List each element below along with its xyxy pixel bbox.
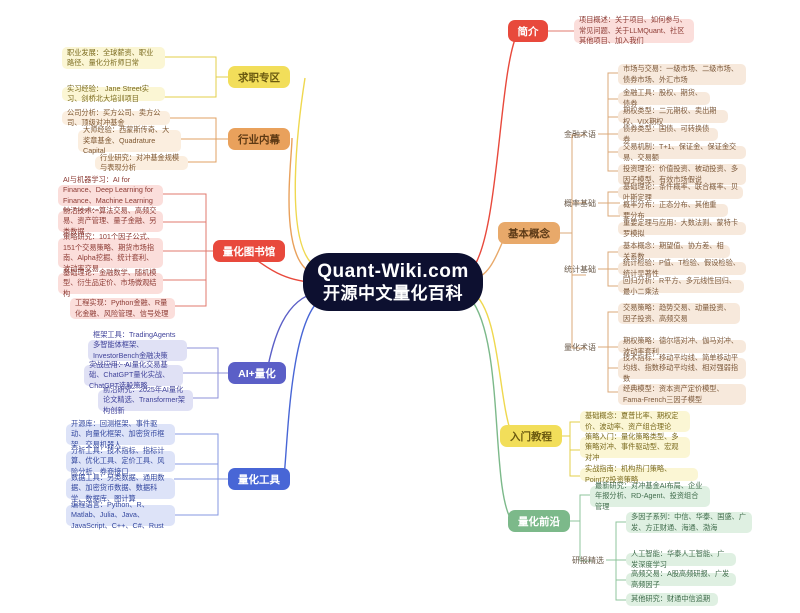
subbranch-统计基础[interactable]: 统计基础 (560, 262, 600, 276)
leaf-card[interactable]: 人工智能：华泰人工智能、广发深度学习 (626, 553, 736, 566)
leaf-text: 工程实现：Python金融、R量化金融、风险管理、信号处理 (75, 298, 170, 319)
leaf-card[interactable]: 实战应用：AI量化交易基础、ChatGPT量化实战、ChatGPT选股策略 (84, 365, 183, 386)
leaf-card[interactable]: 概率分布：正态分布、其他重要分布 (618, 204, 728, 217)
leaf-card[interactable]: 策略入门：量化策略类型、多策略对冲、事件驱动型、宏观对冲 (580, 437, 690, 458)
leaf-card[interactable]: 统计检验：P值、T检验、假设检验、统计显著性 (618, 262, 746, 275)
leaf-card[interactable]: 重要定理与应用：大数法则、蒙特卡罗模拟 (618, 222, 746, 235)
leaf-card[interactable]: 基础理论：条件概率、联合概率、贝叶斯定理 (618, 186, 743, 199)
leaf-card[interactable]: 基础概念：夏普比率、期权定价、波动率、资产组合理论 (580, 411, 690, 432)
subbranch-研报精选[interactable]: 研报精选 (568, 553, 608, 567)
subbranch-label: 研报精选 (572, 555, 604, 566)
root-subtitle: 开源中文量化百科 (323, 283, 463, 304)
subbranch-金融术语[interactable]: 金融术语 (560, 127, 600, 141)
leaf-card[interactable]: 多因子系列：中信、华泰、国盛、广发、方正财通、海通、渤海 (626, 512, 752, 533)
leaf-text: 交易策略：趋势交易、动量投资、因子投资、高频交易 (623, 303, 735, 324)
leaf-card[interactable]: 大师经验：西蒙斯传奇、大奖章基金、Quadrature Capital (78, 130, 181, 152)
branch-行业内幕[interactable]: 行业内幕 (228, 128, 290, 150)
branch-label: 求职专区 (238, 70, 280, 85)
subbranch-label: 统计基础 (564, 264, 596, 275)
leaf-card[interactable]: 分析工具：技术指标、指标计算、优化工具、定价工具、风险分析、券商接口 (66, 451, 175, 472)
branch-label: 量化前沿 (518, 514, 560, 529)
branch-简介[interactable]: 简介 (508, 20, 548, 42)
connector-group (160, 50, 232, 106)
connector-group (598, 190, 622, 242)
leaf-text: 职业发展：全球薪资、职业路径、量化分析师日常 (67, 48, 160, 69)
leaf-card[interactable]: 开源库：回测框架、事件驱动、向量化框架、加密货币框架、交易机器人 (66, 424, 175, 445)
leaf-text: 其他研究：财通中信追期 (631, 594, 710, 605)
leaf-card[interactable]: 编程语言：Python、R、Matlab、Julia、Java、JavaScri… (66, 505, 175, 526)
leaf-card[interactable]: 市场与交易：一级市场、二级市场、债券市场、外汇市场 (618, 64, 746, 85)
leaf-card[interactable]: 实习经验： Jane Street实习、剑桥北大培训项目 (62, 87, 165, 101)
subbranch-label: 量化术语 (564, 342, 596, 353)
leaf-card[interactable]: 期权策略：德尔塔对冲、伽马对冲、波动率套利 (618, 340, 746, 353)
leaf-card[interactable]: 债券类型：国债、可转换债券 (618, 128, 718, 141)
leaf-card[interactable]: 最新研究：对冲基金AI布局、企业年报分析、RD-Agent、投资组合管理 (590, 486, 710, 507)
leaf-card[interactable]: AI与机器学习：AI for Finance、Deep Learning for… (58, 185, 163, 206)
mindmap-canvas: Quant-Wiki.com 开源中文量化百科 求职专区 职业发展：全球薪资、职… (0, 0, 800, 613)
leaf-card[interactable]: 技术指标：移动平均线、简单移动平均线、指数移动平均线、相对强弱指数 (618, 358, 746, 379)
leaf-text: 编程语言：Python、R、Matlab、Julia、Java、JavaScri… (71, 500, 170, 532)
leaf-card[interactable]: 经典模型：资本资产定价模型、Fama-French三因子模型 (618, 384, 746, 405)
leaf-card[interactable]: 回归分析：R平方、多元线性回归、最小二乘法 (618, 280, 744, 293)
branch-label: AI+量化 (238, 366, 276, 381)
leaf-card[interactable]: 工程实现：Python金融、R量化金融、风险管理、信号处理 (70, 298, 175, 319)
branch-量化图书馆[interactable]: 量化图书馆 (213, 240, 285, 262)
branch-label: 量化图书馆 (223, 244, 276, 259)
branch-AI+量化[interactable]: AI+量化 (228, 362, 286, 384)
leaf-card[interactable]: 高频交易：A股高频研报、广发高频因子 (626, 573, 736, 586)
branch-label: 行业内幕 (238, 132, 280, 147)
subbranch-label: 概率基础 (564, 198, 596, 209)
branch-量化工具[interactable]: 量化工具 (228, 468, 290, 490)
leaf-card[interactable]: 前沿研究：2025年AI量化论文精选、Transformer架构创新 (98, 390, 193, 411)
branch-label: 基本概念 (508, 226, 550, 241)
leaf-text: 多因子系列：中信、华泰、国盛、广发、方正财通、海通、渤海 (631, 512, 747, 533)
leaf-card[interactable]: 基本概念：期望值、协方差、相关系数 (618, 245, 730, 258)
leaf-card[interactable]: 数据工具：另类数据、通用数据、加密货币数据、数据科学、数据库、图计算 (66, 478, 175, 499)
leaf-text: 回归分析：R平方、多元线性回归、最小二乘法 (623, 276, 739, 297)
branch-入门教程[interactable]: 入门教程 (500, 425, 562, 447)
leaf-card[interactable]: 策略研究：101个因子公式、151个交易策略、期货市场指南、Alpha挖掘、统计… (58, 238, 163, 268)
leaf-card[interactable]: 框架工具：TradingAgents多智能体框架、InvestorBench金融… (88, 340, 187, 361)
leaf-card[interactable]: 交易机制：T+1、保证金、保证金交易、交易额 (618, 146, 746, 159)
branch-基本概念[interactable]: 基本概念 (498, 222, 560, 244)
leaf-text: 人工智能：华泰人工智能、广发深度学习 (631, 549, 731, 570)
leaf-text: 市场与交易：一级市场、二级市场、债券市场、外汇市场 (623, 64, 741, 85)
subbranch-label: 金融术语 (564, 129, 596, 140)
leaf-card[interactable]: 交易策略：趋势交易、动量投资、因子投资、高频交易 (618, 303, 740, 324)
leaf-text: 前沿研究：2025年AI量化论文精选、Transformer架构创新 (103, 385, 188, 417)
branch-label: 入门教程 (510, 429, 552, 444)
leaf-text: 交易机制：T+1、保证金、保证金交易、交易额 (623, 142, 741, 163)
leaf-text: 行业研究：对冲基金规模与表现分析 (100, 153, 183, 174)
leaf-card[interactable]: 职业发展：全球薪资、职业路径、量化分析师日常 (62, 47, 165, 69)
leaf-card[interactable]: 基础理论：金融数学、随机模型、衍生品定价、市场微观结构 (58, 273, 163, 294)
subbranch-概率基础[interactable]: 概率基础 (560, 196, 600, 210)
leaf-card[interactable]: 公司分析：买方公司、卖方公司、顶级对冲基金 (62, 111, 170, 125)
leaf-text: 高频交易：A股高频研报、广发高频因子 (631, 569, 731, 590)
leaf-text: 最新研究：对冲基金AI布局、企业年报分析、RD-Agent、投资组合管理 (595, 481, 705, 513)
leaf-card[interactable]: 金融工具：股权、期货、债券 (618, 92, 710, 105)
leaf-text: 经典模型：资本资产定价模型、Fama-French三因子模型 (623, 384, 741, 405)
connector-group (598, 248, 622, 306)
branch-量化前沿[interactable]: 量化前沿 (508, 510, 570, 532)
leaf-card[interactable]: 行业研究：对冲基金规模与表现分析 (95, 156, 188, 170)
leaf-card[interactable]: 实战指南：机构热门策略、Point72投资策略 (580, 468, 698, 481)
leaf-card[interactable]: 期权类型：二元期权、卖出期权、VIX期权 (618, 110, 728, 123)
branch-label: 简介 (518, 24, 539, 39)
leaf-text: 基础概念：夏普比率、期权定价、波动率、资产组合理论 (585, 411, 685, 432)
root-node[interactable]: Quant-Wiki.com 开源中文量化百科 (303, 253, 483, 311)
leaf-text: 策略入门：量化策略类型、多策略对冲、事件驱动型、宏观对冲 (585, 432, 685, 464)
leaf-card[interactable]: 项目概述：关于项目、如何参与、常见问题、关于LLMQuant、社区其他项目、加入… (574, 19, 694, 43)
branch-求职专区[interactable]: 求职专区 (228, 66, 290, 88)
branch-label: 量化工具 (238, 472, 280, 487)
leaf-text: 实习经验： Jane Street实习、剑桥北大培训项目 (67, 84, 160, 105)
leaf-text: 重要定理与应用：大数法则、蒙特卡罗模拟 (623, 218, 741, 239)
leaf-card[interactable]: 其他研究：财通中信追期 (626, 593, 718, 606)
subbranch-量化术语[interactable]: 量化术语 (560, 340, 600, 354)
root-title: Quant-Wiki.com (317, 261, 468, 283)
leaf-text: 技术指标：移动平均线、简单移动平均线、指数移动平均线、相对强弱指数 (623, 353, 741, 385)
leaf-text: 项目概述：关于项目、如何参与、常见问题、关于LLMQuant、社区其他项目、加入… (579, 15, 689, 47)
leaf-card[interactable]: 前沿技术：算法交易、高频交易、资产管理、量子金融、另类数据 (58, 211, 163, 232)
leaf-text: 基础理论：金融数学、随机模型、衍生品定价、市场微观结构 (63, 268, 158, 300)
